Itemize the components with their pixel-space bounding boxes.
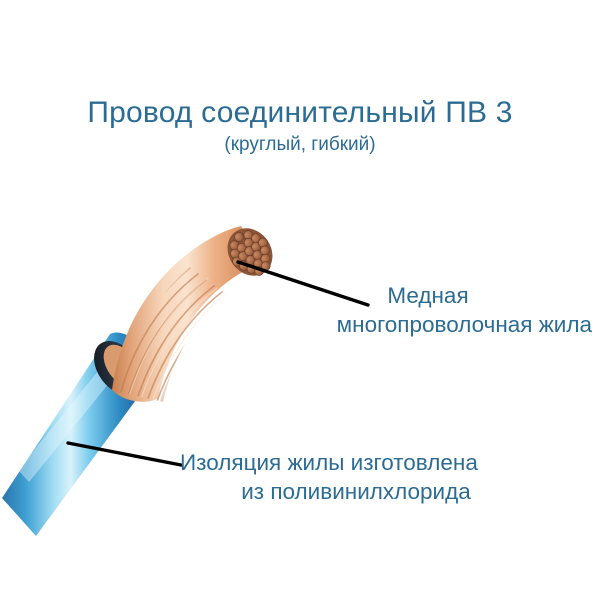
callout-copper-conductor-line2: многопроволочная жила bbox=[266, 310, 592, 339]
callout-copper-conductor: Медная многопроволочная жила bbox=[266, 281, 592, 339]
callout-pvc-insulation-line2: из поливинилхлорида bbox=[180, 477, 550, 506]
callout-copper-conductor-line1: Медная bbox=[266, 281, 592, 310]
callout-pvc-insulation: Изоляция жилы изготовлена из поливинилхл… bbox=[180, 448, 550, 506]
poster-root: Провод соединительный ПВ 3 (круглый, гиб… bbox=[0, 0, 600, 600]
callout-pvc-insulation-line1: Изоляция жилы изготовлена bbox=[180, 450, 478, 475]
